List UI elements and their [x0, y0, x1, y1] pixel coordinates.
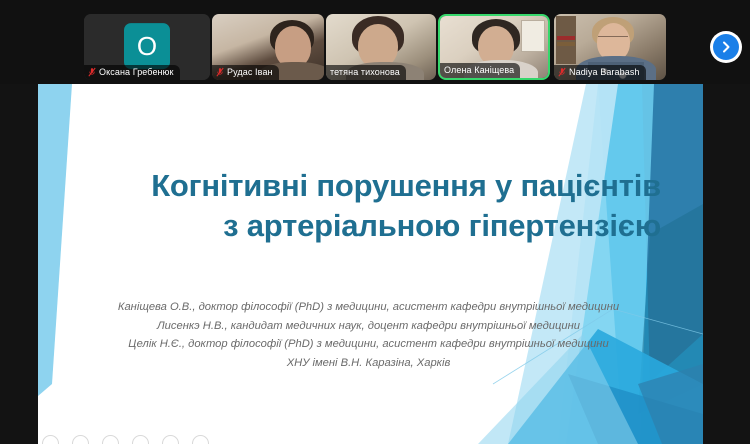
- microphone-muted-icon: [216, 67, 224, 77]
- author-line: Каніщева О.В., доктор філософії (PhD) з …: [74, 298, 663, 317]
- title-line-2: з артеріальною гіпертензією: [78, 206, 661, 246]
- author-line: Лисенкэ Н.В., кандидат медичних наук, до…: [74, 317, 663, 336]
- participant-name: Олена Каніщева: [444, 64, 514, 76]
- participant-name-badge: Оксана Гребенюк: [84, 65, 180, 80]
- next-page-button[interactable]: [710, 31, 742, 63]
- participant-tile-3-active-speaker[interactable]: Олена Каніщева: [438, 14, 550, 80]
- participant-name-badge: тетяна тихонова: [326, 65, 406, 80]
- participant-tile-0[interactable]: О Оксана Гребенюк: [84, 14, 210, 80]
- participant-tile-4[interactable]: Nadiya Barabash: [554, 14, 666, 80]
- reactions-icon[interactable]: [162, 435, 179, 444]
- slide-authors: Каніщева О.В., доктор філософії (PhD) з …: [38, 298, 663, 372]
- meeting-controls-toolbar[interactable]: [38, 435, 703, 444]
- participant-filmstrip: О Оксана Гребенюк Рудас Іван: [0, 0, 750, 84]
- avatar: О: [124, 23, 170, 69]
- participant-name-badge: Nadiya Barabash: [554, 65, 646, 80]
- participant-tile-2[interactable]: тетяна тихонова: [326, 14, 436, 80]
- slide-title: Когнітивні порушення у пацієнтів з артер…: [38, 166, 661, 246]
- participant-name-badge: Олена Каніщева: [440, 63, 520, 78]
- participant-name: Оксана Гребенюк: [99, 66, 174, 78]
- author-line: Целік Н.Є., доктор філософії (PhD) з мед…: [74, 335, 663, 354]
- video-camera-icon[interactable]: [72, 435, 89, 444]
- share-screen-icon[interactable]: [102, 435, 119, 444]
- participant-name: тетяна тихонова: [330, 66, 400, 78]
- chevron-right-icon: [713, 34, 739, 60]
- shared-screen-stage: Когнітивні порушення у пацієнтів з артер…: [0, 84, 750, 444]
- presentation-slide[interactable]: Когнітивні порушення у пацієнтів з артер…: [38, 84, 703, 444]
- microphone-icon[interactable]: [42, 435, 59, 444]
- more-options-icon[interactable]: [192, 435, 209, 444]
- title-line-1: Когнітивні порушення у пацієнтів: [151, 168, 661, 203]
- avatar-initial: О: [137, 33, 157, 59]
- participant-name-badge: Рудас Іван: [212, 65, 279, 80]
- participant-name: Nadiya Barabash: [569, 66, 640, 78]
- participant-tile-1[interactable]: Рудас Іван: [212, 14, 324, 80]
- microphone-muted-icon: [558, 67, 566, 77]
- microphone-muted-icon: [88, 67, 96, 77]
- affiliation-line: ХНУ імені В.Н. Каразіна, Харків: [74, 354, 663, 373]
- participants-icon[interactable]: [132, 435, 149, 444]
- slide-decoration: [38, 84, 703, 444]
- participant-name: Рудас Іван: [227, 66, 273, 78]
